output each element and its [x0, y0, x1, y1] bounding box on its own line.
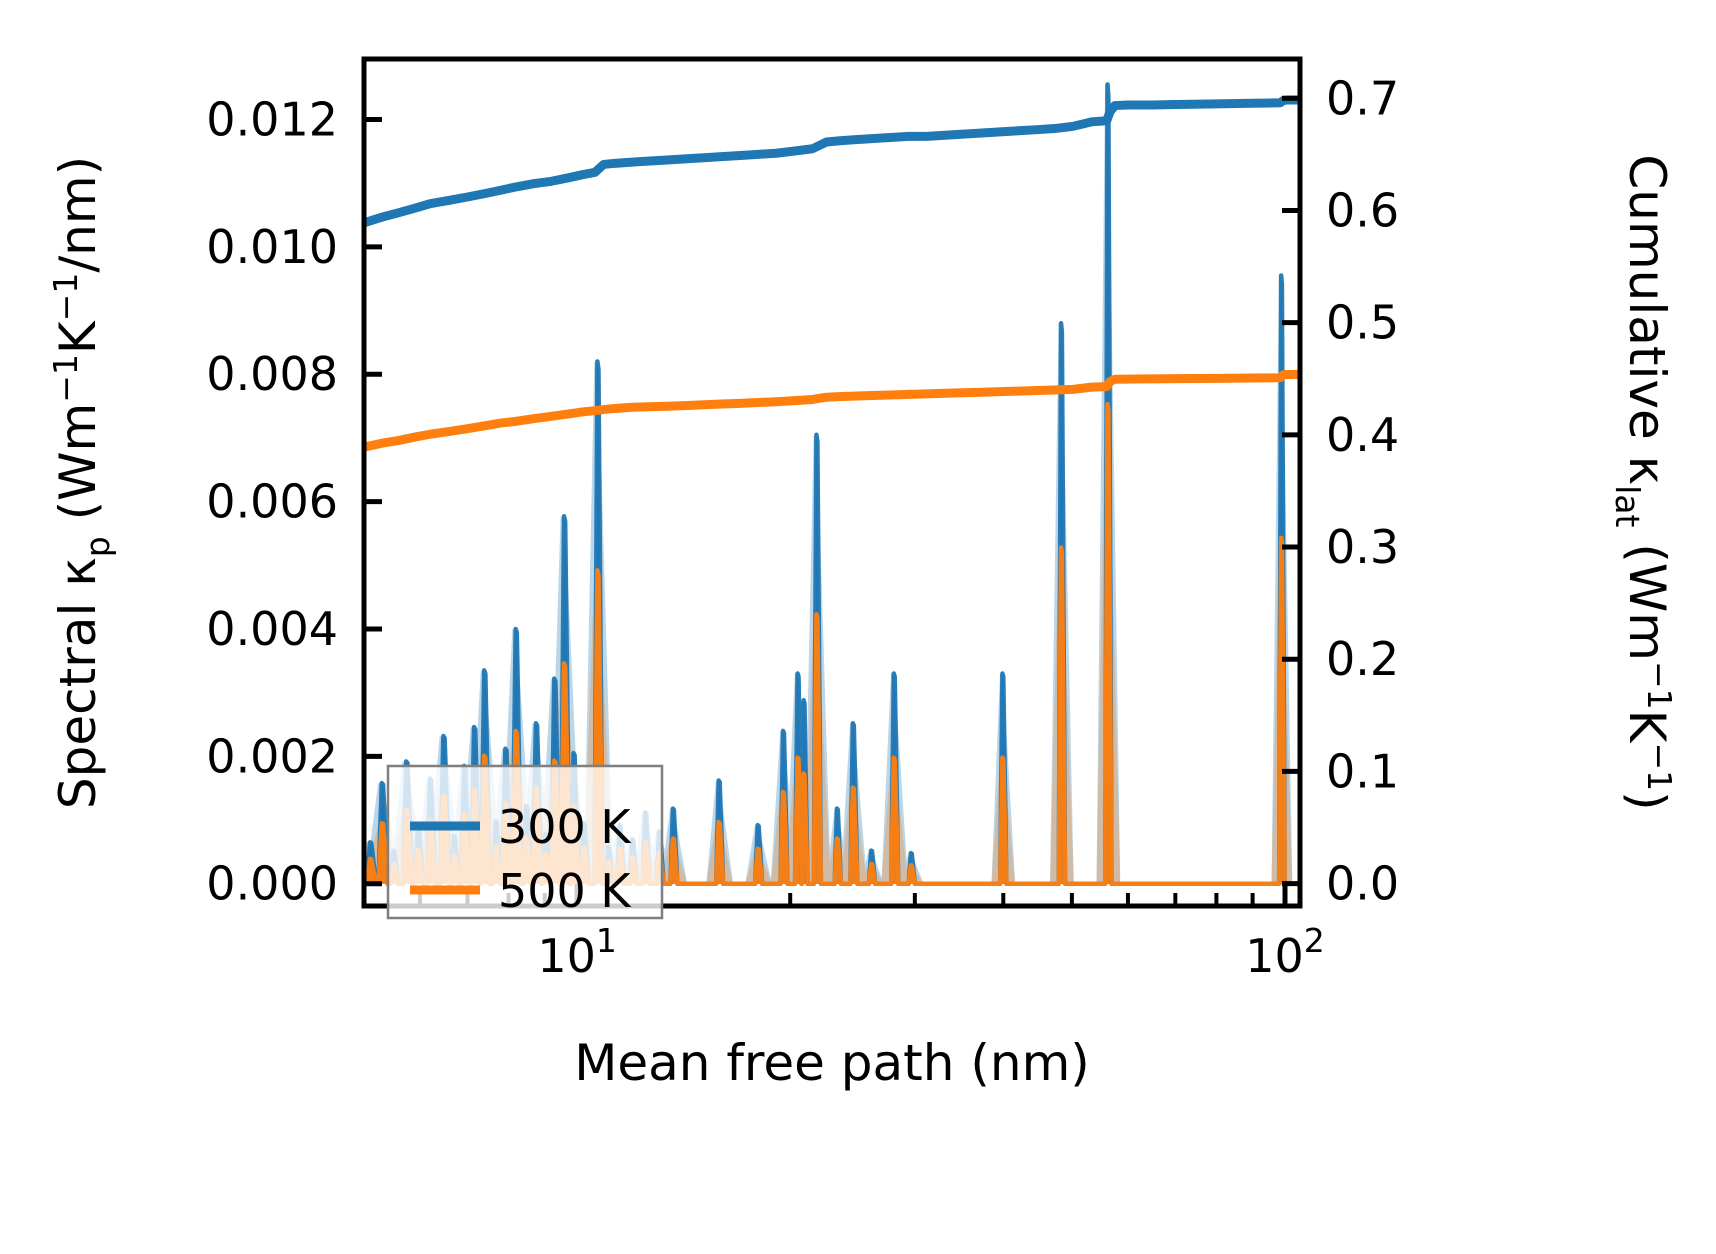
- ytick-label-right: 0.2: [1326, 632, 1399, 686]
- ytick-label-right: 0.3: [1326, 520, 1399, 574]
- chart-legend[interactable]: 300 K500 K: [388, 766, 662, 918]
- xtick-label: 102: [1245, 921, 1325, 983]
- ytick-label-right: 0.6: [1326, 183, 1399, 237]
- ytick-label-left: 0.012: [206, 93, 338, 147]
- ytick-label-left: 0.000: [206, 857, 338, 911]
- spectral-fill-layer: [353, 84, 1300, 883]
- spectral-area-300-k-spectral: [353, 84, 1300, 883]
- xtick-label: 101: [537, 921, 617, 983]
- ytick-label-left: 0.010: [206, 220, 338, 274]
- ytick-label-right: 0.0: [1326, 857, 1399, 911]
- axes-layer: 0.0000.0020.0040.0060.0080.0100.0120.00.…: [46, 59, 1679, 1092]
- ytick-label-right: 0.7: [1326, 71, 1399, 125]
- legend-label-300-K: 300 K: [498, 800, 632, 854]
- y-axis-label-left: Spectral κp (Wm−1K−1/nm): [46, 156, 117, 809]
- y-axis-label-right: Cumulative κlat (Wm−1K−1): [1608, 154, 1679, 810]
- cumulative-line-500-k-cumulative: [364, 374, 1300, 447]
- ytick-label-right: 0.4: [1326, 408, 1399, 462]
- spectral-line-layer: [364, 84, 1300, 883]
- spectral-line-300-k-spectral: [364, 84, 1300, 883]
- x-axis-label: Mean free path (nm): [574, 1034, 1090, 1092]
- chart-plot: 0.0000.0020.0040.0060.0080.0100.0120.00.…: [0, 0, 1716, 1254]
- ytick-label-left: 0.006: [206, 475, 338, 529]
- figure-canvas: 0.0000.0020.0040.0060.0080.0100.0120.00.…: [0, 0, 1716, 1254]
- legend-label-500-K: 500 K: [498, 864, 632, 918]
- ytick-label-left: 0.008: [206, 347, 338, 401]
- cumulative-line-layer: [364, 100, 1300, 447]
- ytick-label-right: 0.1: [1326, 744, 1399, 798]
- cumulative-line-300-k-cumulative: [364, 100, 1300, 223]
- ytick-label-left: 0.004: [206, 602, 338, 656]
- ytick-label-left: 0.002: [206, 729, 338, 783]
- ytick-label-right: 0.5: [1326, 296, 1399, 350]
